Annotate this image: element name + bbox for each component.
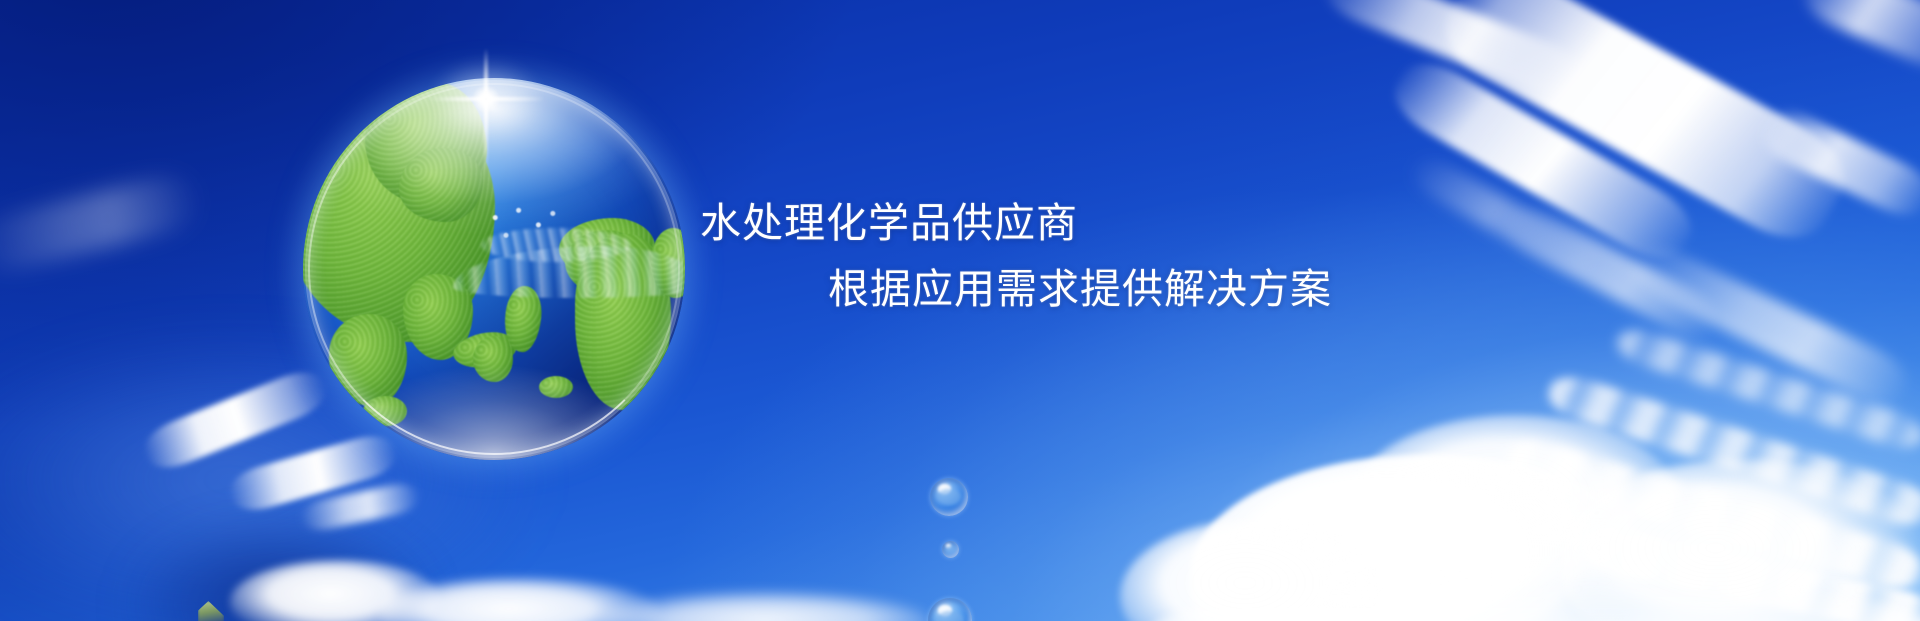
banner-headline: 水处理化学品供应商 根据应用需求提供解决方案 bbox=[700, 190, 1400, 323]
headline-line-1: 水处理化学品供应商 bbox=[700, 190, 1400, 256]
headline-line-2: 根据应用需求提供解决方案 bbox=[700, 256, 1400, 322]
water-droplet-icon bbox=[930, 478, 968, 516]
glint-core bbox=[472, 85, 500, 113]
hero-banner: 水处理化学品供应商 根据应用需求提供解决方案 bbox=[0, 0, 1920, 621]
sky-smudge-bottom-left bbox=[130, 520, 430, 621]
sun-glint-icon bbox=[481, 94, 491, 104]
droplet-reflection bbox=[937, 489, 961, 505]
droplet-reflection bbox=[945, 546, 956, 553]
water-droplet-icon bbox=[942, 541, 959, 558]
droplet-reflection bbox=[936, 611, 964, 621]
green-earth-globe-icon bbox=[303, 78, 685, 460]
